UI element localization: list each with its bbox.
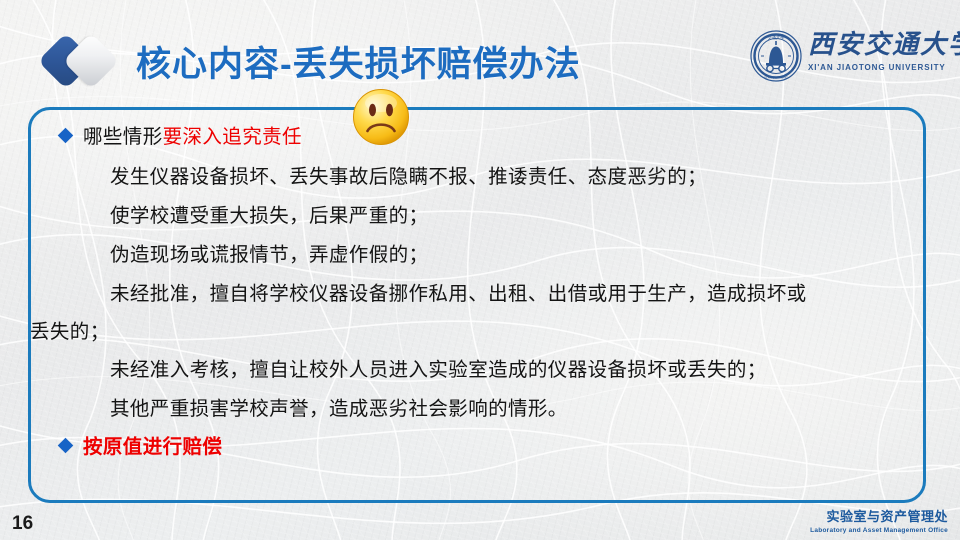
bullet-2-label: 按原值进行赔偿 bbox=[83, 436, 222, 458]
content-body: 哪些情形要深入追究责任 发生仪器设备损坏、丢失事故后隐瞒不报、推诿责任、态度恶劣… bbox=[28, 107, 926, 503]
bullet-item-1: 哪些情形要深入追究责任 bbox=[60, 120, 302, 149]
university-name-cn: 西安交通大学 bbox=[808, 28, 946, 62]
svg-text:XI'AN JIAOTONG: XI'AN JIAOTONG bbox=[764, 76, 789, 80]
footer-org-cn: 实验室与资产管理处 bbox=[810, 506, 948, 525]
footer-org-en: Laboratory and Asset Management Office bbox=[810, 527, 948, 534]
footer-organization: 实验室与资产管理处 Laboratory and Asset Managemen… bbox=[810, 506, 948, 534]
list-item: 未经批准，擅自将学校仪器设备挪作私用、出租、出借或用于生产，造成损坏或 bbox=[110, 277, 807, 306]
page-number: 16 bbox=[12, 514, 33, 533]
bullet-item-2: 按原值进行赔偿 bbox=[60, 430, 222, 459]
bullet-1-highlight: 要深入追究责任 bbox=[163, 126, 302, 148]
university-logo: 交通大學 XI'AN JIAOTONG 西安交通大学 XI'AN JIAOTON… bbox=[750, 28, 946, 86]
slide-canvas: 核心内容-丢失损坏赔偿办法 交通大學 XI'AN JIAOTONG 西安交通大学 bbox=[0, 0, 960, 540]
list-item: 伪造现场或谎报情节，弄虚作假的； bbox=[110, 238, 428, 267]
university-name-en: XI'AN JIAOTONG UNIVERSITY bbox=[808, 63, 946, 72]
list-item: 使学校遭受重大损失，后果严重的； bbox=[110, 199, 428, 228]
xjtu-seal-icon: 交通大學 XI'AN JIAOTONG bbox=[750, 30, 802, 82]
list-item: 其他严重损害学校声誉，造成恶劣社会影响的情形。 bbox=[110, 392, 568, 421]
blue-diamond-bullet-icon bbox=[58, 128, 74, 144]
page-title: 核心内容-丢失损坏赔偿办法 bbox=[136, 36, 581, 87]
blue-diamond-bullet-icon bbox=[58, 438, 74, 454]
university-name-block: 西安交通大学 XI'AN JIAOTONG UNIVERSITY bbox=[808, 28, 946, 72]
double-diamond-icon bbox=[44, 30, 128, 92]
svg-text:交通大學: 交通大學 bbox=[768, 34, 785, 41]
list-item-continuation: 丢失的； bbox=[30, 315, 110, 344]
list-item: 发生仪器设备损坏、丢失事故后隐瞒不报、推诿责任、态度恶劣的； bbox=[110, 160, 707, 189]
list-item: 未经准入考核，擅自让校外人员进入实验室造成的仪器设备损坏或丢失的； bbox=[110, 353, 767, 382]
bullet-1-prefix: 哪些情形 bbox=[83, 126, 163, 148]
sad-face-icon bbox=[352, 88, 410, 146]
